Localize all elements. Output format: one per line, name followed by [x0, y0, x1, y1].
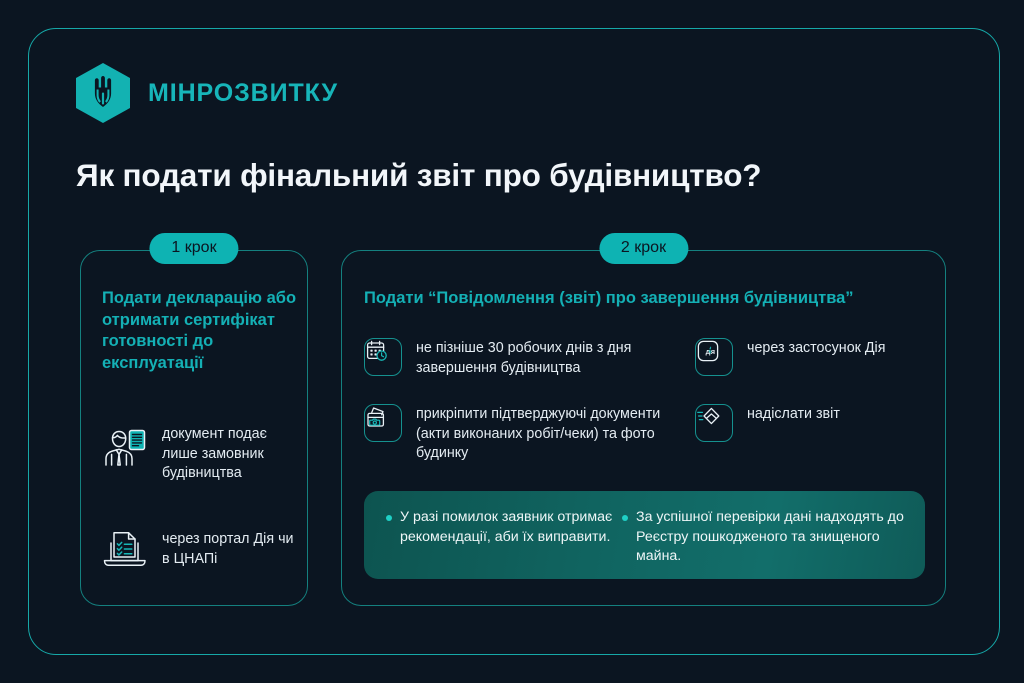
laptop-checklist-document-icon — [102, 529, 148, 574]
svg-text:я: я — [711, 347, 715, 356]
callout-note-2: За успішної перевірки дані надходять до … — [622, 491, 922, 579]
calendar-clock-icon — [364, 338, 402, 376]
step-2-feature-4-label: надіслати звіт — [747, 404, 840, 425]
callout-note-1: У разі помилок заявник отримає рекоменда… — [364, 491, 622, 579]
diia-app-icon: д я — [695, 338, 733, 376]
brand-name: МІНРОЗВИТКУ — [148, 79, 338, 108]
step-2-badge: 2 крок — [599, 233, 688, 264]
step-2-feature-1: не пізніше 30 робочих днів з дня заверше… — [364, 338, 666, 378]
step-2-feature-4: надіслати звіт — [695, 404, 840, 442]
step-2-feature-2: прикріпити підтверджуючі документи (акти… — [364, 404, 671, 464]
brand-lockup: МІНРОЗВИТКУ — [74, 62, 338, 124]
folder-photo-documents-icon — [364, 404, 402, 442]
callout-note-1-text: У разі помилок заявник отримає рекоменда… — [400, 508, 615, 579]
notes-callout: У разі помилок заявник отримає рекоменда… — [364, 491, 925, 579]
step-2-feature-3: д я через застосунок Дія — [695, 338, 885, 376]
page-title: Як подати фінальний звіт про будівництво… — [76, 157, 761, 194]
send-envelope-icon — [695, 404, 733, 442]
step-1-feature-2-label: через портал Дія чи в ЦНАПі — [162, 529, 302, 569]
step-2-feature-3-label: через застосунок Дія — [747, 338, 885, 359]
ukraine-trident-hexagon-icon — [74, 62, 132, 124]
bullet-icon — [386, 515, 392, 521]
step-1-feature-1-label: документ подає лише замовник будівництва — [162, 424, 302, 484]
bullet-icon — [622, 515, 628, 521]
step-1-badge: 1 крок — [149, 233, 238, 264]
step-2-feature-2-label: прикріпити підтверджуючі документи (акти… — [416, 404, 671, 464]
person-with-document-icon — [102, 424, 148, 473]
step-1-title: Подати декларацію або отримати сертифіка… — [102, 288, 297, 374]
step-2-title: Подати “Повідомлення (звіт) про завершен… — [364, 288, 854, 309]
step-2-card: 2 крок Подати “Повідомлення (звіт) про з… — [341, 250, 946, 606]
step-1-feature-1: документ подає лише замовник будівництва — [102, 424, 302, 484]
step-1-card: 1 крок Подати декларацію або отримати се… — [80, 250, 308, 606]
step-1-feature-2: через портал Дія чи в ЦНАПі — [102, 529, 302, 574]
callout-note-2-text: За успішної перевірки дані надходять до … — [636, 508, 922, 579]
step-2-feature-1-label: не пізніше 30 робочих днів з дня заверше… — [416, 338, 666, 378]
infographic-canvas: МІНРОЗВИТКУ Як подати фінальний звіт про… — [0, 0, 1024, 683]
